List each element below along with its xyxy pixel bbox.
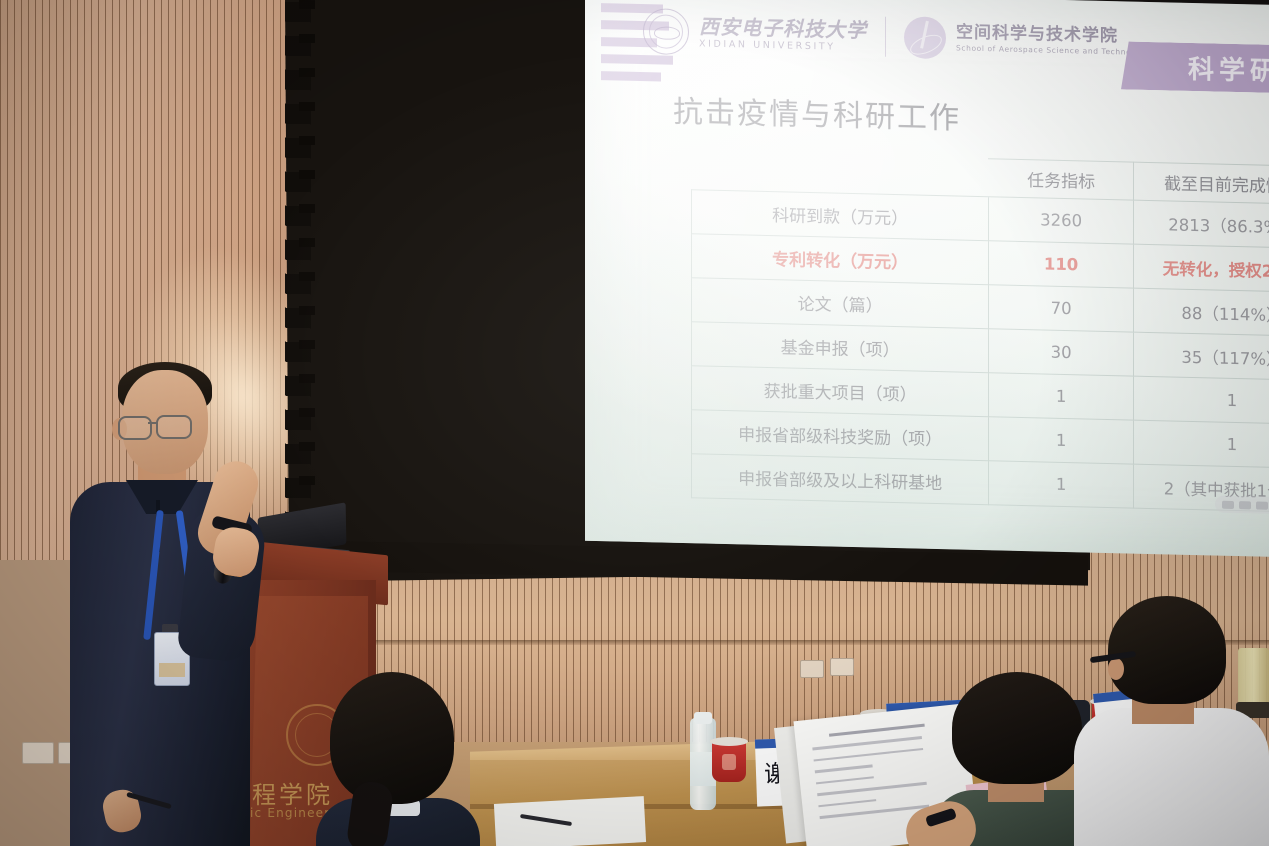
bottle-cap bbox=[694, 712, 712, 724]
table-cell-target: 3260 bbox=[989, 197, 1134, 244]
table-cell-status: 2813（86.3%） bbox=[1133, 200, 1269, 249]
photo-scene: 西安电子科技大学 XIDIAN UNIVERSITY 空间科学与技术学院 Sch… bbox=[0, 0, 1269, 846]
table-header-cell: 截至目前完成情况 bbox=[1133, 162, 1269, 205]
glasses-lens-left bbox=[118, 416, 152, 440]
table-cell-target: 30 bbox=[989, 329, 1134, 376]
audience-right-shirt bbox=[1074, 708, 1269, 846]
table-cell-item: 论文（篇） bbox=[692, 278, 989, 329]
metrics-table: 任务指标截至目前完成情况科研到款（万元）32602813（86.3%）专利转化（… bbox=[691, 151, 1269, 513]
logo-divider bbox=[885, 17, 886, 57]
table-cell-status: 1 bbox=[1133, 420, 1269, 469]
paper-cup-logo bbox=[722, 754, 736, 770]
projection-screen: 西安电子科技大学 XIDIAN UNIVERSITY 空间科学与技术学院 Sch… bbox=[285, 0, 1090, 592]
table-cell-target: 110 bbox=[989, 241, 1134, 288]
projected-slide: 西安电子科技大学 XIDIAN UNIVERSITY 空间科学与技术学院 Sch… bbox=[585, 0, 1269, 559]
section-banner: 科学研究 bbox=[1121, 41, 1269, 95]
wall-socket bbox=[830, 658, 854, 676]
table-cell-item: 申报省部级科技奖励（项） bbox=[692, 410, 989, 461]
slide-title: 抗击疫情与科研工作 bbox=[673, 87, 961, 138]
school-seal-icon bbox=[904, 16, 946, 59]
audience-member-left bbox=[316, 672, 480, 846]
table-cell-item: 科研到款（万元） bbox=[692, 190, 989, 241]
section-banner-label: 科学研究 bbox=[1188, 48, 1269, 88]
table-cell-status: 1 bbox=[1133, 376, 1269, 425]
table-cell-target: 1 bbox=[989, 373, 1134, 420]
presenter-toolbar[interactable]: ? bbox=[1215, 496, 1269, 516]
wall-socket bbox=[22, 742, 54, 764]
table-cell-target: 1 bbox=[989, 417, 1134, 464]
glasses-lens-right bbox=[156, 415, 192, 439]
table-cell-status: 35（117%） bbox=[1133, 332, 1269, 381]
audience-left-hair bbox=[330, 672, 454, 804]
wall-socket bbox=[800, 660, 824, 678]
table-header-cell: 任务指标 bbox=[989, 159, 1134, 200]
table-cell-item: 专利转化（万元） bbox=[692, 234, 989, 285]
toolbar-pen-icon[interactable] bbox=[1239, 501, 1251, 509]
table-cell-target: 70 bbox=[989, 285, 1134, 332]
table-cell-target: 1 bbox=[989, 461, 1134, 508]
audience-middle-hair bbox=[952, 672, 1082, 784]
toolbar-prev-icon[interactable] bbox=[1222, 500, 1234, 508]
university-name-cn: 西安电子科技大学 bbox=[699, 16, 867, 41]
table-cell-item: 获批重大项目（项） bbox=[692, 366, 989, 417]
university-seal-icon bbox=[643, 8, 689, 55]
audience-right-hair bbox=[1108, 596, 1226, 704]
audience-member-right bbox=[1084, 596, 1269, 846]
toolbar-menu-icon[interactable] bbox=[1256, 501, 1268, 509]
audience-right-ear bbox=[1108, 658, 1124, 680]
presenter-person bbox=[64, 360, 304, 846]
table-cell-item: 申报省部级及以上科研基地 bbox=[692, 454, 989, 505]
table-cell-item: 基金申报（项） bbox=[692, 322, 989, 373]
table-cell-status: 无转化，授权27项 bbox=[1133, 244, 1269, 293]
glasses-bridge bbox=[148, 422, 158, 424]
table-cell-status: 88（114%） bbox=[1133, 288, 1269, 337]
slide-logos: 西安电子科技大学 XIDIAN UNIVERSITY 空间科学与技术学院 Sch… bbox=[643, 8, 1150, 66]
